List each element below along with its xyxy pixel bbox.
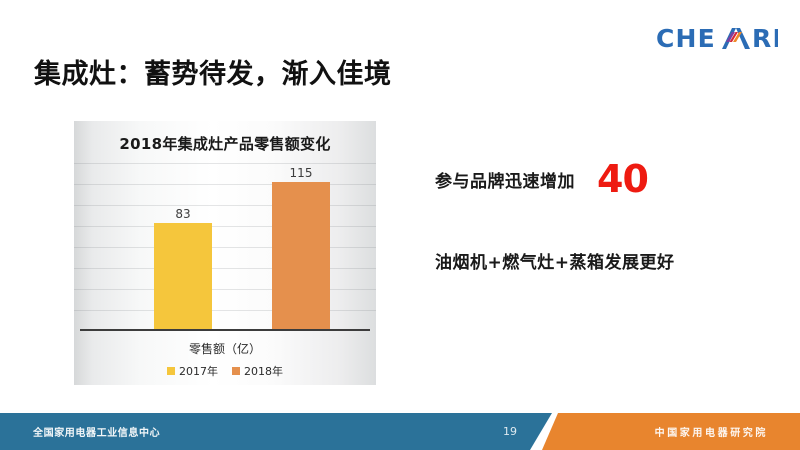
footer-page-number: 19 <box>498 425 522 438</box>
legend-label-2018: 2018年 <box>244 363 283 379</box>
svg-text:RI: RI <box>752 24 778 53</box>
bar-value-label-2018: 115 <box>272 166 330 180</box>
callout-product-mix-text: 油烟机+燃气灶+蒸箱发展更好 <box>435 248 675 273</box>
cheari-logo-icon: CHE RI <box>656 22 778 56</box>
slide-root: CHE RI 集成灶：蓄势待发，渐入佳境 2018年集成灶产品零售额变化 <box>0 0 800 450</box>
footer-organization-left: 全国家用电器工业信息中心 <box>33 424 160 439</box>
chart-plot-area: 83 115 <box>74 163 376 329</box>
chart-axis-line <box>80 329 370 331</box>
legend-swatch-2018 <box>232 367 240 375</box>
legend-item-2018: 2018年 <box>232 363 283 379</box>
bar-value-label-2017: 83 <box>154 207 212 221</box>
legend-label-2017: 2017年 <box>179 363 218 379</box>
callout-brand-growth: 参与品牌迅速增加 40 <box>435 160 648 198</box>
bar-2018 <box>272 182 330 329</box>
slide-footer: 全国家用电器工业信息中心 19 中国家用电器研究院 <box>0 413 800 450</box>
footer-organization-right: 中国家用电器研究院 <box>655 424 768 439</box>
svg-text:CHE: CHE <box>656 24 716 53</box>
callout-brand-growth-text: 参与品牌迅速增加 <box>435 167 575 192</box>
page-title: 集成灶：蓄势待发，渐入佳境 <box>34 52 392 91</box>
chart-x-axis-label: 零售额（亿） <box>74 340 376 357</box>
chart-legend: 2017年 2018年 <box>74 363 376 379</box>
legend-swatch-2017 <box>167 367 175 375</box>
callout-brand-growth-number: 40 <box>597 160 648 198</box>
bar-2017 <box>154 223 212 329</box>
retail-sales-bar-chart: 2018年集成灶产品零售额变化 83 115 零售额（亿） 2017年 20 <box>74 121 376 385</box>
cheari-logo: CHE RI <box>656 22 778 56</box>
legend-item-2017: 2017年 <box>167 363 218 379</box>
chart-title: 2018年集成灶产品零售额变化 <box>74 133 376 154</box>
